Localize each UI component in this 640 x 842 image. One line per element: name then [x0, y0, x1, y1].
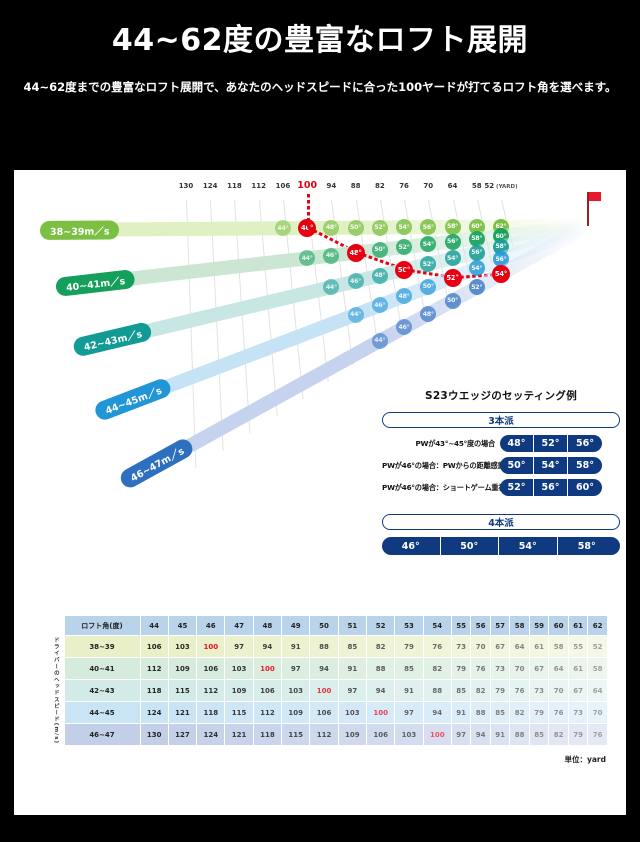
yard-tick-76: 76	[399, 182, 409, 190]
table-cell: 73	[568, 702, 587, 724]
table-cell: 76	[588, 724, 608, 746]
table-cell: 70	[549, 680, 568, 702]
table-cell: 82	[367, 636, 395, 658]
table-cell: 88	[367, 658, 395, 680]
table-cell: 106	[140, 636, 168, 658]
table-cell: 130	[140, 724, 168, 746]
table-row: 46~4713012712412111811511210910610310097…	[48, 724, 608, 746]
speed-pill-4: 44~45m／s	[93, 376, 174, 422]
table-cell: 94	[471, 724, 490, 746]
table-cell: 67	[529, 658, 548, 680]
table-col-header-44: 44	[140, 616, 168, 636]
table-cell: 109	[168, 658, 196, 680]
loft-chip[interactable]: 52°	[534, 435, 568, 452]
table-header-row: ロフト角(度) 44454647484950515253545556575859…	[48, 616, 608, 636]
table-cell: 85	[529, 724, 548, 746]
guide-line	[186, 200, 196, 468]
setting-chip-group: 50°54°58°	[500, 457, 602, 474]
table-cell: 58	[549, 636, 568, 658]
loft-chip[interactable]: 56°	[568, 435, 602, 452]
table-cell: 109	[282, 702, 310, 724]
page-subtitle: 44~62度までの豊富なロフト展開で、あなたのヘッドスピードに合った100ヤード…	[0, 75, 640, 99]
table-col-header-46: 46	[197, 616, 225, 636]
loft-node: 54°	[420, 236, 436, 252]
table-cell: 88	[510, 724, 529, 746]
table-cell: 73	[451, 636, 470, 658]
table-row: 44~4512412111811511210910610310097949188…	[48, 702, 608, 724]
setting-row-label: PWが43°~45°度の場合	[382, 439, 500, 449]
yard-tick-52: 52 (YARD)	[484, 182, 517, 190]
table-cell: 124	[197, 724, 225, 746]
loft-chip[interactable]: 58°	[568, 457, 602, 474]
table-cell: 94	[310, 658, 338, 680]
yard-tick-124: 124	[203, 182, 218, 190]
yard-tick-130: 130	[179, 182, 194, 190]
table-cell: 109	[338, 724, 366, 746]
table-cell-highlight: 100	[253, 658, 281, 680]
table-cell: 67	[568, 680, 587, 702]
table-col-header-62: 62	[588, 616, 608, 636]
loft-node: 56°	[445, 234, 461, 250]
yard-tick-106: 106	[276, 182, 291, 190]
table-cell: 64	[588, 680, 608, 702]
table-col-header-57: 57	[490, 616, 509, 636]
table-cell: 55	[568, 636, 587, 658]
yardage-table-wrap: ロフト角(度) 44454647484950515253545556575859…	[48, 615, 608, 765]
yard-tick-64: 64	[448, 182, 458, 190]
table-cell: 82	[423, 658, 451, 680]
table-cell: 118	[140, 680, 168, 702]
loft-chip[interactable]: 58°	[558, 537, 617, 555]
table-cell: 82	[549, 724, 568, 746]
table-cell: 106	[197, 658, 225, 680]
loft-node: 44°	[372, 333, 388, 349]
yard-tick-58: 58	[472, 182, 482, 190]
loft-node: 50°	[372, 242, 388, 258]
table-cell: 127	[168, 724, 196, 746]
table-cell: 58	[588, 658, 608, 680]
loft-node: 50°	[420, 279, 436, 295]
table-cell: 97	[451, 724, 470, 746]
infographic-page: 44~62度の豊富なロフト展開 44~62度までの豊富なロフト展開で、あなたのヘ…	[0, 0, 640, 842]
setting-chip-group: 52°56°60°	[500, 479, 602, 496]
table-col-header-45: 45	[168, 616, 196, 636]
table-cell: 67	[490, 636, 509, 658]
table-cell: 76	[471, 658, 490, 680]
table-cell: 109	[225, 680, 253, 702]
yard-tick-112: 112	[251, 182, 266, 190]
table-cell: 106	[253, 680, 281, 702]
loft-chip[interactable]: 54°	[534, 457, 568, 474]
loft-node: 48°	[396, 288, 412, 304]
loft-node: 52°	[469, 279, 485, 295]
table-cell: 85	[451, 680, 470, 702]
table-cell: 112	[197, 680, 225, 702]
loft-node: 52°	[372, 220, 388, 236]
loft-node: 46°	[396, 319, 412, 335]
table-row: 42~4311811511210910610310097949188858279…	[48, 680, 608, 702]
loft-node: 44°	[275, 220, 291, 236]
table-cell: 97	[338, 680, 366, 702]
table-cell: 118	[197, 702, 225, 724]
table-cell: 64	[549, 658, 568, 680]
table-cell: 97	[225, 636, 253, 658]
table-cell: 85	[338, 636, 366, 658]
three-wedge-cap: 3本派	[382, 412, 620, 428]
table-cell: 115	[168, 680, 196, 702]
table-cell: 79	[490, 680, 509, 702]
yard-axis: 1301241181121061009488827670645852 (YARD…	[14, 182, 626, 196]
loft-node: 56°	[420, 219, 436, 235]
table-cell: 115	[282, 724, 310, 746]
table-cell: 103	[338, 702, 366, 724]
setting-row: PWが46°の場合：ショートゲーム重視52°56°60°	[382, 479, 620, 496]
table-cell: 112	[310, 724, 338, 746]
table-cell: 91	[282, 636, 310, 658]
table-col-header-55: 55	[451, 616, 470, 636]
yard-tick-118: 118	[227, 182, 242, 190]
table-cell: 103	[282, 680, 310, 702]
hundred-yard-dotted-line	[307, 194, 310, 234]
four-wedge-cap: 4本派	[382, 514, 620, 530]
loft-node: 44°	[323, 279, 339, 295]
table-cell: 118	[253, 724, 281, 746]
table-cell: 97	[395, 702, 423, 724]
yardage-table: ロフト角(度) 44454647484950515253545556575859…	[48, 615, 608, 746]
table-cell: 79	[568, 724, 587, 746]
guide-line	[210, 200, 224, 451]
yard-tick-88: 88	[351, 182, 361, 190]
table-cell: 103	[168, 636, 196, 658]
loft-node: 46°	[323, 248, 339, 264]
golf-flag-icon	[589, 192, 601, 201]
table-cell: 85	[395, 658, 423, 680]
table-col-header-56: 56	[471, 616, 490, 636]
four-wedge-chips: 46°50°54°58°	[382, 537, 620, 555]
table-cell-highlight: 100	[367, 702, 395, 724]
table-cell: 73	[529, 680, 548, 702]
table-cell: 76	[510, 680, 529, 702]
table-cell: 88	[310, 636, 338, 658]
table-cell: 79	[451, 658, 470, 680]
yard-tick-94: 94	[327, 182, 337, 190]
loft-node-highlight: 54°	[492, 265, 510, 283]
table-cell: 112	[253, 702, 281, 724]
table-col-header-52: 52	[367, 616, 395, 636]
table-cell: 115	[225, 702, 253, 724]
table-cell: 91	[395, 680, 423, 702]
table-cell: 106	[367, 724, 395, 746]
loft-node: 44°	[348, 307, 364, 323]
table-body: ドライバーのヘッドスピード(m/s)38~3910610310097949188…	[48, 636, 608, 746]
three-wedge-rows: PWが43°~45°度の場合48°52°56°PWが46°の場合：PWからの距離…	[382, 435, 620, 496]
table-cell: 94	[423, 702, 451, 724]
table-cell: 64	[510, 636, 529, 658]
setting-row-label: PWが46°の場合：PWからの距離感重視	[382, 461, 500, 471]
loft-node: 48°	[420, 306, 436, 322]
yard-tick-70: 70	[423, 182, 433, 190]
table-cell: 82	[510, 702, 529, 724]
table-cell: 61	[568, 658, 587, 680]
setting-chip-group: 48°52°56°	[500, 435, 602, 452]
table-col-header-54: 54	[423, 616, 451, 636]
table-cell: 82	[471, 680, 490, 702]
unit-note: 単位：yard	[48, 754, 608, 765]
loft-node: 50°	[445, 293, 461, 309]
loft-node: 58°	[445, 219, 461, 235]
loft-chip[interactable]: 60°	[568, 479, 602, 496]
table-cell: 52	[588, 636, 608, 658]
table-cell: 106	[310, 702, 338, 724]
table-cell: 88	[423, 680, 451, 702]
setting-row: PWが43°~45°度の場合48°52°56°	[382, 435, 620, 452]
setting-row-label: PWが46°の場合：ショートゲーム重視	[382, 483, 500, 493]
loft-chip[interactable]: 50°	[500, 457, 534, 474]
table-cell: 76	[549, 702, 568, 724]
table-cell: 94	[367, 680, 395, 702]
loft-node: 52°	[420, 256, 436, 272]
table-col-header-61: 61	[568, 616, 587, 636]
speed-pill-1: 38~39m／s	[40, 220, 120, 240]
loft-node: 48°	[372, 268, 388, 284]
table-cell: 124	[140, 702, 168, 724]
table-col-header-59: 59	[529, 616, 548, 636]
table-cell: 91	[338, 658, 366, 680]
table-cell: 91	[451, 702, 470, 724]
loft-chip[interactable]: 46°	[382, 537, 441, 555]
setting-examples-panel: S23ウエッジのセッティング例 3本派 PWが43°~45°度の場合48°52°…	[382, 388, 620, 555]
table-cell: 85	[490, 702, 509, 724]
loft-chip[interactable]: 48°	[500, 435, 534, 452]
table-cell: 76	[423, 636, 451, 658]
table-cell: 91	[490, 724, 509, 746]
loft-chip[interactable]: 52°	[500, 479, 534, 496]
table-cell: 103	[395, 724, 423, 746]
table-row: 40~4111210910610310097949188858279767370…	[48, 658, 608, 680]
table-col-header-48: 48	[253, 616, 281, 636]
loft-node: 48°	[323, 220, 339, 236]
vertical-axis-spacer	[48, 616, 64, 636]
loft-chip[interactable]: 50°	[441, 537, 500, 555]
table-cell: 70	[588, 702, 608, 724]
table-col-header-47: 47	[225, 616, 253, 636]
table-cell: 88	[471, 702, 490, 724]
table-cell: 121	[225, 724, 253, 746]
setting-row: PWが46°の場合：PWからの距離感重視50°54°58°	[382, 457, 620, 474]
table-cell: 70	[510, 658, 529, 680]
table-cell: 94	[253, 636, 281, 658]
table-row-label: 44~45	[64, 702, 140, 724]
corner-label: ロフト角(度)	[64, 616, 140, 636]
table-cell-highlight: 100	[423, 724, 451, 746]
table-col-header-58: 58	[510, 616, 529, 636]
loft-chip[interactable]: 56°	[534, 479, 568, 496]
loft-node: 46°	[348, 273, 364, 289]
loft-node: 46°	[372, 297, 388, 313]
speed-pill-3: 42~43m／s	[72, 320, 154, 357]
speed-pill-2: 40~41m／s	[55, 268, 136, 296]
table-cell: 61	[529, 636, 548, 658]
yard-tick-82: 82	[375, 182, 385, 190]
loft-node: 50°	[348, 220, 364, 236]
white-content-card: 1301241181121061009488827670645852 (YARD…	[14, 170, 626, 815]
table-col-header-50: 50	[310, 616, 338, 636]
loft-chip[interactable]: 54°	[499, 537, 558, 555]
table-cell: 97	[282, 658, 310, 680]
table-col-header-49: 49	[282, 616, 310, 636]
table-row-label: 38~39	[64, 636, 140, 658]
loft-node: 52°	[396, 239, 412, 255]
vertical-axis-label: ドライバーのヘッドスピード(m/s)	[48, 636, 64, 746]
table-cell: 79	[529, 702, 548, 724]
page-title: 44~62度の豊富なロフト展開	[0, 0, 640, 57]
table-col-header-60: 60	[549, 616, 568, 636]
table-cell: 103	[225, 658, 253, 680]
loft-node: 44°	[299, 250, 315, 266]
table-row-label: 46~47	[64, 724, 140, 746]
loft-node: 54°	[396, 219, 412, 235]
table-cell-highlight: 100	[197, 636, 225, 658]
table-cell: 121	[168, 702, 196, 724]
table-cell: 112	[140, 658, 168, 680]
yard-tick-100: 100	[297, 180, 317, 191]
table-row-label: 40~41	[64, 658, 140, 680]
setting-title: S23ウエッジのセッティング例	[382, 388, 620, 403]
yard-unit-label: (YARD)	[494, 184, 517, 190]
loft-node: 54°	[445, 250, 461, 266]
table-cell: 70	[471, 636, 490, 658]
speed-pill-5: 46~47m／s	[117, 435, 196, 490]
table-cell: 73	[490, 658, 509, 680]
loft-node: 54°	[469, 260, 485, 276]
table-row: ドライバーのヘッドスピード(m/s)38~3910610310097949188…	[48, 636, 608, 658]
table-cell-highlight: 100	[310, 680, 338, 702]
table-cell: 79	[395, 636, 423, 658]
table-row-label: 42~43	[64, 680, 140, 702]
table-col-header-51: 51	[338, 616, 366, 636]
table-col-header-53: 53	[395, 616, 423, 636]
